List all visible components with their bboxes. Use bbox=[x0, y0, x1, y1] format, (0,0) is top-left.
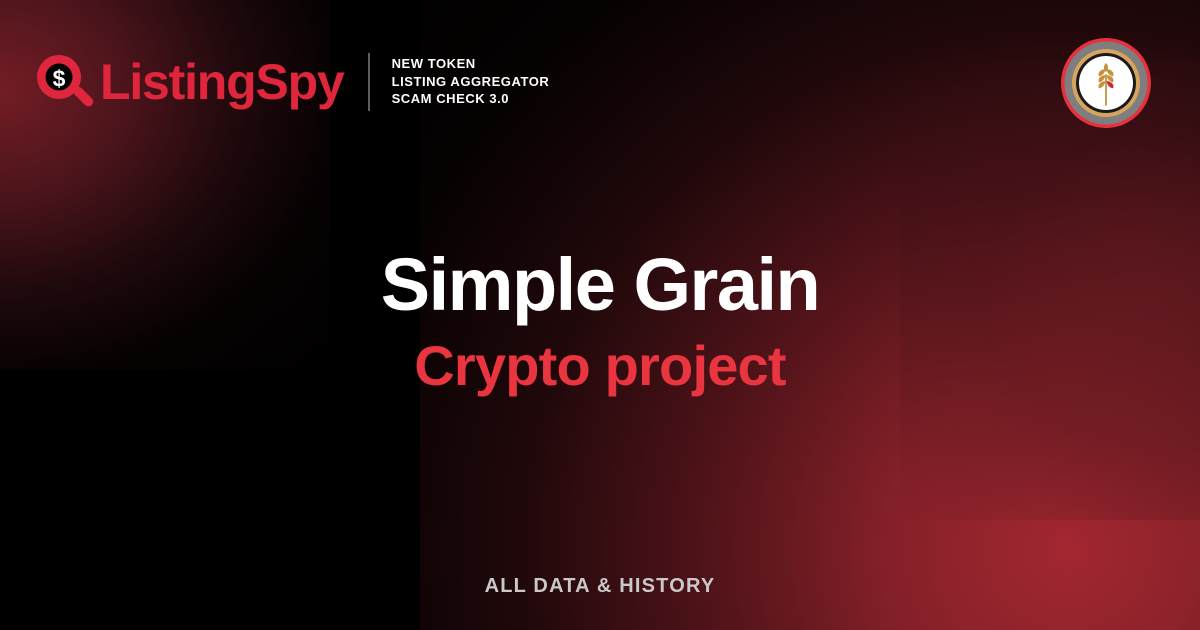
brand-tagline: NEW TOKEN LISTING AGGREGATOR SCAM CHECK … bbox=[392, 57, 550, 107]
tagline-line-3: SCAM CHECK 3.0 bbox=[392, 92, 550, 107]
page-subtitle: Crypto project bbox=[0, 336, 1200, 396]
magnifier-dollar-icon: $ bbox=[34, 52, 94, 112]
footer: ALL DATA & HISTORY bbox=[0, 575, 1200, 598]
brand-divider bbox=[368, 53, 370, 111]
tagline-line-2: LISTING AGGREGATOR bbox=[392, 75, 550, 90]
svg-text:$: $ bbox=[53, 66, 66, 92]
token-logo-badge bbox=[1060, 37, 1152, 129]
tagline-line-1: NEW TOKEN bbox=[392, 57, 550, 72]
footer-label: ALL DATA & HISTORY bbox=[0, 575, 1200, 598]
wheat-grain-icon bbox=[1060, 37, 1152, 129]
hero-section: Simple Grain Crypto project bbox=[0, 246, 1200, 396]
brand-wordmark: ListingSpy bbox=[100, 57, 344, 107]
header: $ ListingSpy NEW TOKEN LISTING AGGREGATO… bbox=[0, 0, 1200, 175]
og-card-canvas: $ ListingSpy NEW TOKEN LISTING AGGREGATO… bbox=[0, 0, 1200, 630]
brand-logo[interactable]: $ ListingSpy NEW TOKEN LISTING AGGREGATO… bbox=[34, 52, 549, 112]
page-title: Simple Grain bbox=[0, 246, 1200, 324]
